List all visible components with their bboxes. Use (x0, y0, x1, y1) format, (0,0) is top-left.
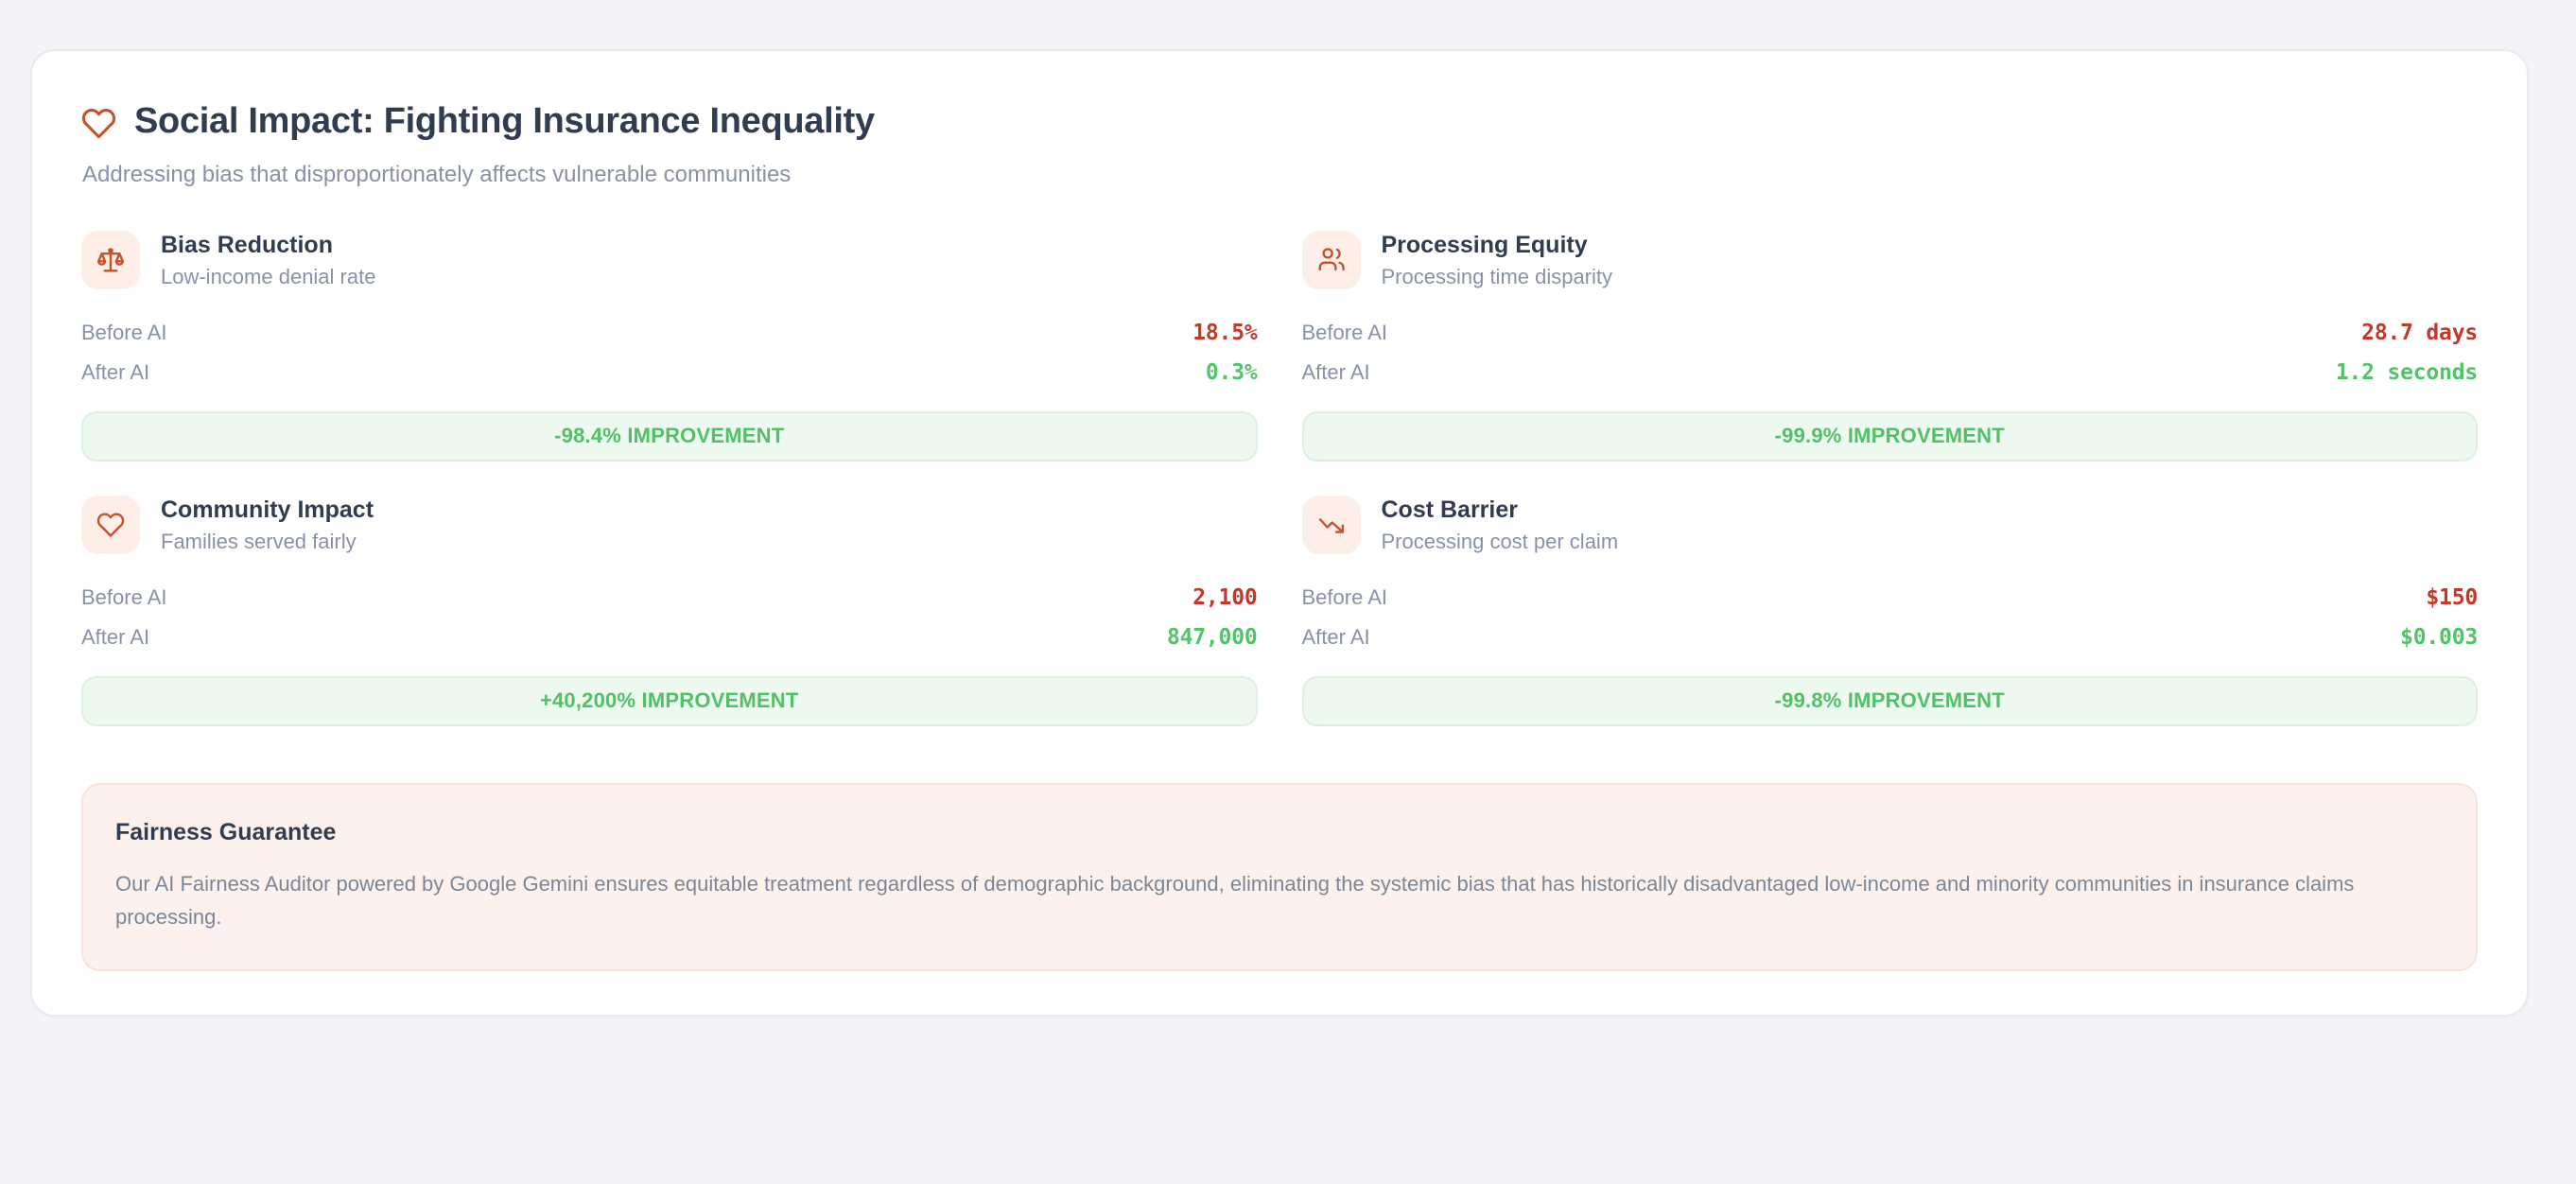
metric-rows: Before AI 18.5% After AI 0.3% (81, 313, 1258, 392)
metric-rows: Before AI $150 After AI $0.003 (1302, 578, 2479, 657)
after-value: 1.2 seconds (2336, 360, 2478, 385)
scales-balance-icon (96, 246, 125, 274)
metric-description: Low-income denial rate (161, 265, 375, 288)
metric-row-before: Before AI 28.7 days (1302, 313, 2479, 353)
heart-icon (96, 511, 125, 539)
after-label: After AI (81, 360, 149, 385)
metric-name: Processing Equity (1382, 232, 1613, 259)
metric-header: Bias Reduction Low-income denial rate (81, 231, 1258, 289)
metric-row-after: After AI 0.3% (81, 353, 1258, 392)
metric-icon-container (81, 496, 140, 554)
metric-header-text: Community Impact Families served fairly (161, 496, 374, 553)
heart-icon (81, 106, 116, 141)
page-root: Social Impact: Fighting Insurance Inequa… (0, 0, 2576, 1184)
metric-row-before: Before AI 2,100 (81, 578, 1258, 618)
after-label: After AI (81, 625, 149, 650)
social-impact-panel: Social Impact: Fighting Insurance Inequa… (30, 49, 2529, 1017)
after-label: After AI (1302, 360, 1370, 385)
metric-grid: Bias Reduction Low-income denial rate Be… (81, 231, 2478, 760)
metric-icon-container (81, 231, 140, 289)
metric-row-after: After AI 847,000 (81, 618, 1258, 657)
metric-description: Processing time disparity (1382, 265, 1613, 288)
before-label: Before AI (1302, 585, 1388, 610)
metric-description: Processing cost per claim (1382, 530, 1619, 553)
title-row: Social Impact: Fighting Insurance Inequa… (81, 102, 2478, 142)
metric-header-text: Bias Reduction Low-income denial rate (161, 232, 375, 288)
metric-header: Processing Equity Processing time dispar… (1302, 231, 2479, 289)
improvement-badge: +40,200% IMPROVEMENT (81, 676, 1258, 726)
trending-down-icon (1317, 511, 1346, 539)
page-title: Social Impact: Fighting Insurance Inequa… (134, 102, 875, 142)
before-value: 18.5% (1192, 321, 1257, 345)
before-value: 28.7 days (2361, 321, 2478, 345)
fairness-guarantee-title: Fairness Guarantee (115, 819, 2444, 846)
before-label: Before AI (1302, 321, 1388, 345)
improvement-badge: -98.4% IMPROVEMENT (81, 411, 1258, 461)
metric-row-before: Before AI $150 (1302, 578, 2479, 618)
improvement-badge: -99.9% IMPROVEMENT (1302, 411, 2479, 461)
metric-header: Cost Barrier Processing cost per claim (1302, 496, 2479, 554)
after-value: 0.3% (1206, 360, 1258, 385)
metric-row-after: After AI $0.003 (1302, 618, 2479, 657)
metric-header-text: Processing Equity Processing time dispar… (1382, 232, 1613, 288)
after-value: 847,000 (1167, 625, 1258, 650)
page-subtitle: Addressing bias that disproportionately … (82, 160, 2478, 189)
metric-header-text: Cost Barrier Processing cost per claim (1382, 496, 1619, 553)
improvement-badge: -99.8% IMPROVEMENT (1302, 676, 2479, 726)
metric-description: Families served fairly (161, 530, 374, 553)
panel-header: Social Impact: Fighting Insurance Inequa… (81, 102, 2478, 189)
before-label: Before AI (81, 585, 167, 610)
metric-rows: Before AI 2,100 After AI 847,000 (81, 578, 1258, 657)
metric-name: Cost Barrier (1382, 496, 1619, 524)
metric-card-processing-equity: Processing Equity Processing time dispar… (1302, 231, 2479, 496)
metric-row-before: Before AI 18.5% (81, 313, 1258, 353)
metric-icon-container (1302, 231, 1361, 289)
metric-name: Community Impact (161, 496, 374, 524)
before-label: Before AI (81, 321, 167, 345)
users-icon (1317, 246, 1346, 274)
metric-name: Bias Reduction (161, 232, 375, 259)
metric-icon-container (1302, 496, 1361, 554)
fairness-guarantee-panel: Fairness Guarantee Our AI Fairness Audit… (81, 783, 2478, 971)
metric-card-community-impact: Community Impact Families served fairly … (81, 496, 1258, 760)
fairness-guarantee-body: Our AI Fairness Auditor powered by Googl… (115, 867, 2385, 933)
metric-card-bias-reduction: Bias Reduction Low-income denial rate Be… (81, 231, 1258, 496)
metric-header: Community Impact Families served fairly (81, 496, 1258, 554)
metric-row-after: After AI 1.2 seconds (1302, 353, 2479, 392)
before-value: 2,100 (1192, 585, 1257, 610)
after-label: After AI (1302, 625, 1370, 650)
metric-card-cost-barrier: Cost Barrier Processing cost per claim B… (1302, 496, 2479, 760)
metric-rows: Before AI 28.7 days After AI 1.2 seconds (1302, 313, 2479, 392)
before-value: $150 (2426, 585, 2478, 610)
after-value: $0.003 (2400, 625, 2478, 650)
